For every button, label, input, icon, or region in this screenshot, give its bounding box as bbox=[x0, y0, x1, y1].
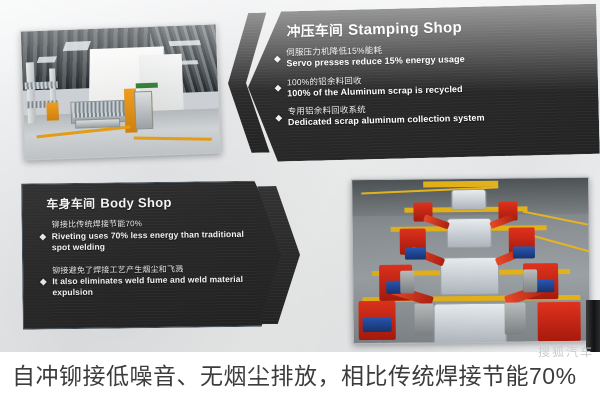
photo-car-body bbox=[447, 218, 492, 248]
poster-board: 冲压车间Stamping Shop ◆ 伺服压力机降低15%能耗 Servo p… bbox=[0, 0, 600, 352]
panel-stamping-bullets: ◆ 伺服压力机降低15%能耗 Servo presses reduce 15% … bbox=[271, 40, 587, 136]
panel-body-title: 车身车间Body Shop bbox=[46, 194, 172, 213]
panel-stamping-shop: 冲压车间Stamping Shop ◆ 伺服压力机降低15%能耗 Servo p… bbox=[246, 4, 600, 163]
photo-skylight bbox=[36, 56, 56, 63]
bullet-text: 铆接比传统焊接节能70% Riveting uses 70% less ener… bbox=[52, 218, 260, 253]
bullet-item: ◆ 伺服压力机降低15%能耗 Servo presses reduce 15% … bbox=[271, 40, 585, 70]
photo-robot-joint bbox=[363, 317, 391, 332]
photo-robot-pedestal bbox=[504, 302, 526, 335]
photo-machine-panel bbox=[134, 91, 153, 129]
photo-robot-joint bbox=[405, 248, 426, 260]
photo-robot-pedestal bbox=[415, 303, 434, 336]
photo-press-guard bbox=[72, 101, 127, 118]
diamond-bullet-icon: ◆ bbox=[272, 84, 284, 93]
bullet-text: 伺服压力机降低15%能耗 Servo presses reduce 15% en… bbox=[286, 40, 585, 70]
photo-rack bbox=[25, 81, 58, 89]
photo-die bbox=[75, 118, 120, 129]
photo-gantry bbox=[423, 180, 499, 187]
photo-car-body bbox=[451, 189, 486, 211]
diamond-bullet-icon: ◆ bbox=[271, 54, 283, 63]
bullet-text: 专用铝余料回收系统 Dedicated scrap aluminum colle… bbox=[288, 99, 587, 129]
diamond-bullet-icon: ◆ bbox=[37, 278, 49, 287]
bullet-text-en: It also eliminates weld fume and weld ma… bbox=[52, 274, 260, 299]
caption-bar: 搜狐汽车 自冲铆接低噪音、无烟尘排放，相比传统焊接节能70% bbox=[0, 352, 600, 400]
photo-robot-pedestal bbox=[523, 270, 537, 293]
diamond-bullet-icon: ◆ bbox=[273, 113, 285, 122]
bullet-item: ◆ 铆接比传统焊接节能70% Riveting uses 70% less en… bbox=[37, 218, 260, 253]
panel-stamping-title: 冲压车间Stamping Shop bbox=[286, 16, 462, 40]
photo-skylight bbox=[63, 41, 92, 51]
diamond-bullet-icon: ◆ bbox=[37, 232, 49, 241]
body-shop-welding-robots-photo bbox=[351, 177, 591, 344]
photo-display bbox=[136, 83, 158, 89]
photo-car-body bbox=[440, 257, 499, 295]
photo-robot-joint bbox=[513, 247, 534, 259]
photo-car-body bbox=[434, 303, 507, 345]
bullet-item: ◆ 铆接避免了焊接工艺产生烟尘和飞溅 It also eliminates we… bbox=[37, 263, 260, 298]
bullet-item: ◆ 专用铝余料回收系统 Dedicated scrap aluminum col… bbox=[273, 99, 587, 129]
panel-body-bullets: ◆ 铆接比传统焊接节能70% Riveting uses 70% less en… bbox=[37, 218, 261, 312]
panel-stamping-title-cn: 冲压车间 bbox=[287, 23, 344, 39]
photo-welding-robot bbox=[538, 302, 581, 342]
panel-body-shop: 车身车间Body Shop ◆ 铆接比传统焊接节能70% Riveting us… bbox=[21, 180, 288, 329]
bullet-item: ◆ 100%的铝余料回收 100% of the Aluminum scrap … bbox=[272, 70, 586, 100]
panel-body-title-cn: 车身车间 bbox=[46, 197, 95, 212]
photo-machine bbox=[47, 102, 59, 120]
bullet-text: 铆接避免了焊接工艺产生烟尘和飞溅 It also eliminates weld… bbox=[52, 263, 260, 298]
stamping-shop-press-line-photo bbox=[20, 23, 222, 160]
bullet-text: 100%的铝余料回收 100% of the Aluminum scrap is… bbox=[287, 70, 586, 100]
photo-robot-pedestal bbox=[400, 271, 414, 294]
caption-text: 自冲铆接低噪音、无烟尘排放，相比传统焊接节能70% bbox=[12, 357, 598, 395]
panel-body-title-en: Body Shop bbox=[100, 195, 171, 211]
panel-stamping-title-en: Stamping Shop bbox=[348, 19, 462, 39]
bullet-text-en: Riveting uses 70% less energy than tradi… bbox=[52, 228, 260, 253]
